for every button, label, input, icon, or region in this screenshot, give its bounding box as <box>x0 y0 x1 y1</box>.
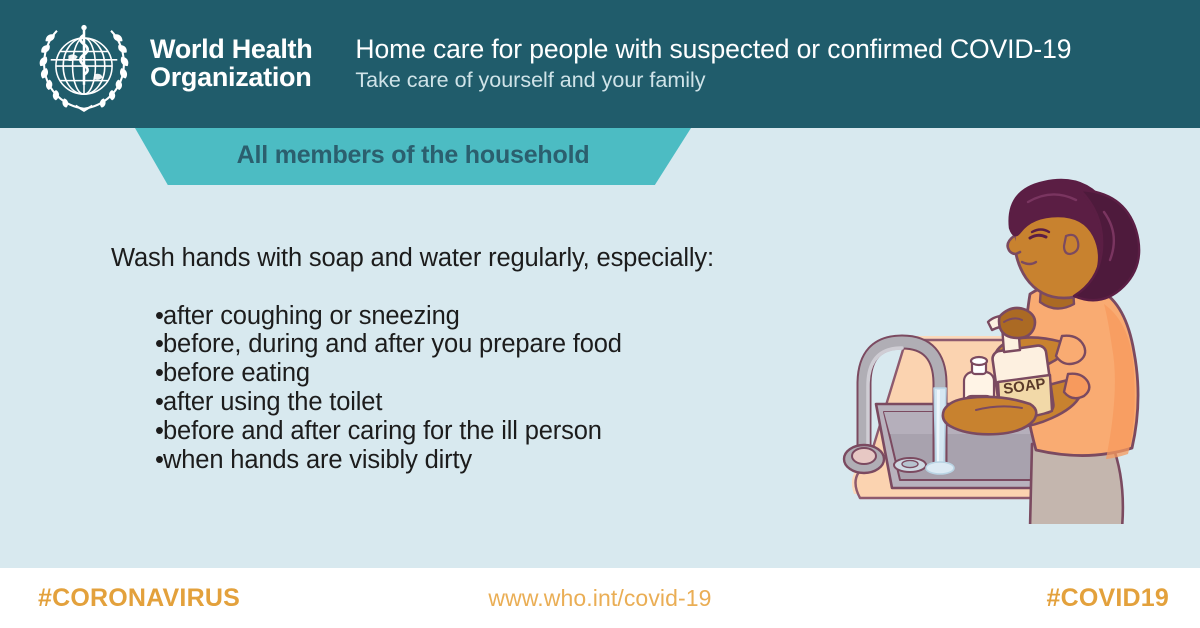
bullet-list: •after coughing or sneezing •before, dur… <box>111 302 811 475</box>
list-item-label: when hands are visibly dirty <box>163 446 472 474</box>
list-item-label: before and after caring for the ill pers… <box>163 417 602 445</box>
list-item: •after using the toilet <box>111 388 811 417</box>
who-emblem-icon <box>32 12 136 116</box>
list-item-label: after coughing or sneezing <box>163 302 460 330</box>
bullet-icon: • <box>155 417 164 446</box>
page-subtitle: Take care of yourself and your family <box>355 67 1200 95</box>
hashtag-coronavirus: #CORONAVIRUS <box>38 584 240 613</box>
list-item: •before and after caring for the ill per… <box>111 417 811 446</box>
content-block: Wash hands with soap and water regularly… <box>111 243 811 474</box>
bullet-icon: • <box>155 388 164 417</box>
list-item: •after coughing or sneezing <box>111 302 811 331</box>
list-item-label: before eating <box>163 359 310 387</box>
who-wordmark: World Health Organization <box>150 36 312 91</box>
list-item: •before, during and after you prepare fo… <box>111 330 811 359</box>
bullet-icon: • <box>155 359 164 388</box>
list-item: •before eating <box>111 359 811 388</box>
who-wordmark-line1: World Health <box>150 36 312 64</box>
lead-text: Wash hands with soap and water regularly… <box>111 243 811 274</box>
header-titles: Home care for people with suspected or c… <box>355 33 1200 95</box>
woman-washing-hands-at-sink-illustration: SOAP <box>818 176 1184 524</box>
list-item-label: before, during and after you prepare foo… <box>163 330 622 358</box>
who-infographic-poster: World Health Organization Home care for … <box>0 0 1200 628</box>
list-item: •when hands are visibly dirty <box>111 446 811 475</box>
page-title: Home care for people with suspected or c… <box>355 33 1200 66</box>
bullet-icon: • <box>155 446 164 475</box>
section-banner: All members of the household <box>135 128 691 185</box>
bullet-icon: • <box>155 330 164 359</box>
who-wordmark-line2: Organization <box>150 64 312 92</box>
section-banner-label: All members of the household <box>135 128 691 185</box>
who-url[interactable]: www.who.int/covid-19 <box>488 585 711 612</box>
hashtag-covid19: #COVID19 <box>1047 584 1170 613</box>
header-bar: World Health Organization Home care for … <box>0 0 1200 128</box>
bullet-icon: • <box>155 302 164 331</box>
list-item-label: after using the toilet <box>163 388 382 416</box>
footer-bar: #CORONAVIRUS www.who.int/covid-19 #COVID… <box>0 568 1200 628</box>
